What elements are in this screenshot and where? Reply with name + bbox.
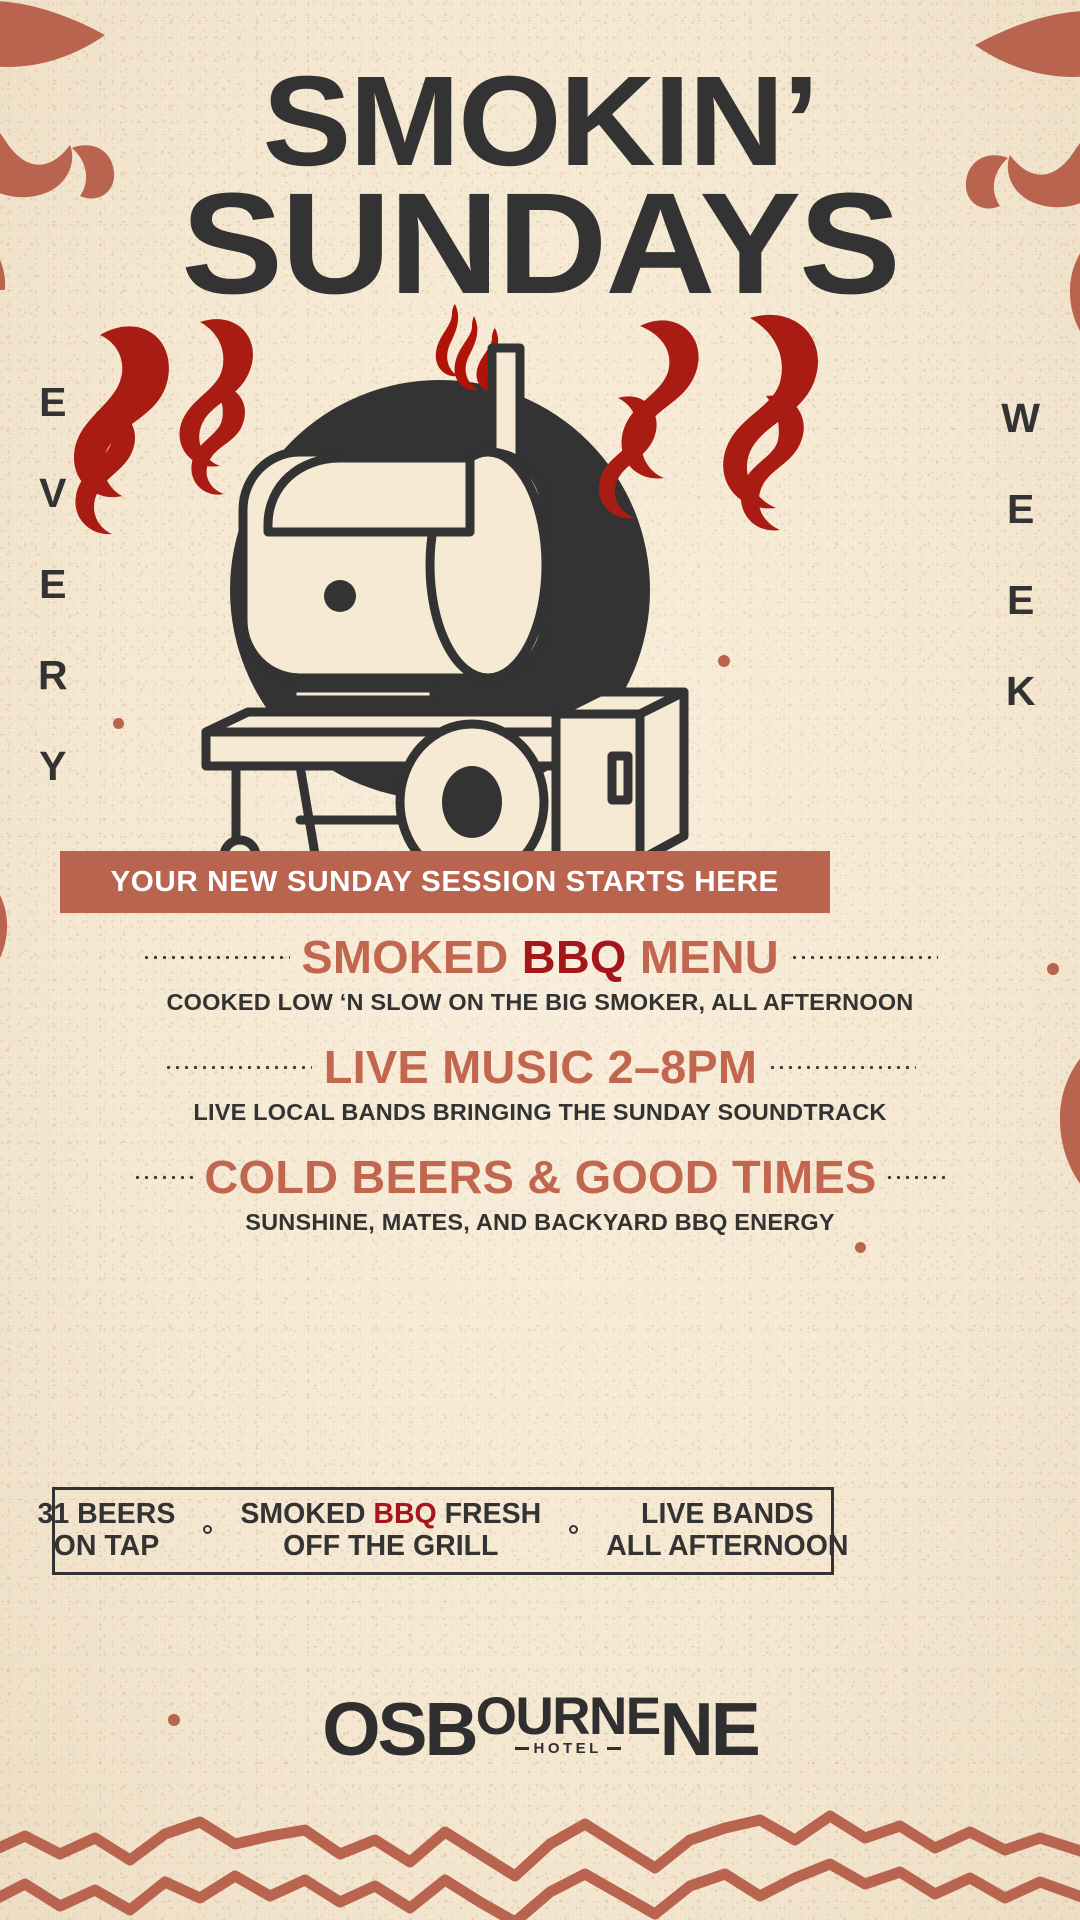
- stat-item-bbq: SMOKED BBQ FRESH OFF THE GRILL: [234, 1499, 547, 1563]
- logo-part-3: NE: [660, 1699, 758, 1761]
- poster-title: SMOKIN’ SUNDAYS: [0, 62, 1080, 312]
- dotted-rule-right: [790, 955, 938, 960]
- side-word-week: WEEK: [1001, 398, 1040, 762]
- side-word-every-letter: Y: [39, 746, 66, 787]
- feature-title-pre: COLD BEERS & GOOD TIMES: [204, 1151, 876, 1203]
- logo-middle-group: OURNE HOTEL: [476, 1694, 660, 1757]
- banner-label: YOUR NEW SUNDAY SESSION STARTS HERE: [111, 866, 779, 899]
- side-word-week-letter: E: [1007, 489, 1034, 530]
- wave-line-icon: [0, 1810, 1080, 1920]
- feature-title-highlight: BBQ: [522, 931, 627, 983]
- stat-line1-highlight: BBQ: [373, 1498, 436, 1530]
- feature-title: COLD BEERS & GOOD TIMES: [204, 1150, 876, 1204]
- stat-line-1: SMOKED BBQ FRESH: [240, 1499, 541, 1531]
- side-word-week-letter: K: [1006, 671, 1036, 712]
- stat-separator-dot: [203, 1525, 212, 1534]
- side-word-every: EVERY: [38, 382, 68, 837]
- session-banner: YOUR NEW SUNDAY SESSION STARTS HERE: [60, 851, 830, 913]
- stat-line-2: OFF THE GRILL: [240, 1531, 541, 1563]
- stat-line-1: 31 BEERS: [38, 1499, 176, 1531]
- side-word-week-letter: E: [1007, 580, 1034, 621]
- logo-rule-right: [607, 1747, 621, 1750]
- stat-line-2: ALL AFTERNOON: [606, 1531, 848, 1563]
- poster-canvas: SMOKIN’ SUNDAYS EVERY WEEK: [0, 0, 1080, 1920]
- speck-dot: [855, 1242, 866, 1253]
- stat-separator-dot: [569, 1525, 578, 1534]
- side-word-week-letter: W: [1001, 398, 1040, 439]
- feature-item-cold-beers: COLD BEERS & GOOD TIMES SUNSHINE, MATES,…: [0, 1150, 1080, 1236]
- feature-item-bbq-menu: SMOKED BBQ MENU COOKED LOW ‘N SLOW ON TH…: [0, 930, 1080, 1016]
- side-word-every-letter: E: [39, 564, 66, 605]
- feature-title-post: MENU: [627, 931, 779, 983]
- stat-item-bands: LIVE BANDS ALL AFTERNOON: [600, 1499, 854, 1563]
- smoke-wisp-icon: [599, 315, 818, 531]
- stat-line-1: LIVE BANDS: [606, 1499, 848, 1531]
- title-line-2: SUNDAYS: [0, 176, 1080, 311]
- stat-line1-pre: 31 BEERS: [38, 1498, 176, 1530]
- stat-line1-pre: LIVE BANDS: [641, 1498, 814, 1530]
- dotted-rule-left: [164, 1065, 312, 1070]
- dotted-rule-right: [768, 1065, 916, 1070]
- smoke-wisp-icon: [74, 319, 253, 534]
- dotted-rule-left: [133, 1175, 195, 1180]
- logo-hotel-sublabel: HOTEL: [515, 1740, 621, 1757]
- stat-line1-post: FRESH: [437, 1498, 542, 1530]
- logo-part-1: OSB: [322, 1699, 476, 1761]
- feature-heading-row: COLD BEERS & GOOD TIMES: [0, 1150, 1080, 1204]
- stat-item-beers: 31 BEERS ON TAP: [32, 1499, 182, 1563]
- dotted-rule-right: [885, 1175, 947, 1180]
- dotted-rule-left: [142, 955, 290, 960]
- bbq-smoker-illustration: [0, 300, 1080, 860]
- logo-hotel-text: HOTEL: [534, 1740, 602, 1757]
- feature-title: SMOKED BBQ MENU: [301, 930, 779, 984]
- feature-subtitle: COOKED LOW ‘N SLOW ON THE BIG SMOKER, AL…: [0, 989, 1080, 1016]
- logo-part-2: OURNE: [476, 1694, 660, 1739]
- feature-list: SMOKED BBQ MENU COOKED LOW ‘N SLOW ON TH…: [0, 930, 1080, 1236]
- side-word-every-letter: E: [39, 382, 66, 423]
- feature-item-live-music: LIVE MUSIC 2–8PM LIVE LOCAL BANDS BRINGI…: [0, 1040, 1080, 1126]
- feature-subtitle: LIVE LOCAL BANDS BRINGING THE SUNDAY SOU…: [0, 1099, 1080, 1126]
- feature-title-pre: LIVE MUSIC 2–8PM: [323, 1041, 756, 1093]
- logo-rule-left: [515, 1747, 529, 1750]
- stats-box: 31 BEERS ON TAP SMOKED BBQ FRESH OFF THE…: [52, 1487, 834, 1575]
- side-word-every-letter: V: [39, 473, 66, 514]
- feature-title: LIVE MUSIC 2–8PM: [323, 1040, 756, 1094]
- feature-heading-row: SMOKED BBQ MENU: [0, 930, 1080, 984]
- stat-line1-pre: SMOKED: [240, 1498, 373, 1530]
- feature-subtitle: SUNSHINE, MATES, AND BACKYARD BBQ ENERGY: [0, 1209, 1080, 1236]
- side-word-every-letter: R: [38, 655, 68, 696]
- osbourne-hotel-logo: OSB OURNE HOTEL NE: [0, 1694, 1080, 1760]
- stat-line-2: ON TAP: [38, 1531, 176, 1563]
- feature-heading-row: LIVE MUSIC 2–8PM: [0, 1040, 1080, 1094]
- feature-title-pre: SMOKED: [301, 931, 521, 983]
